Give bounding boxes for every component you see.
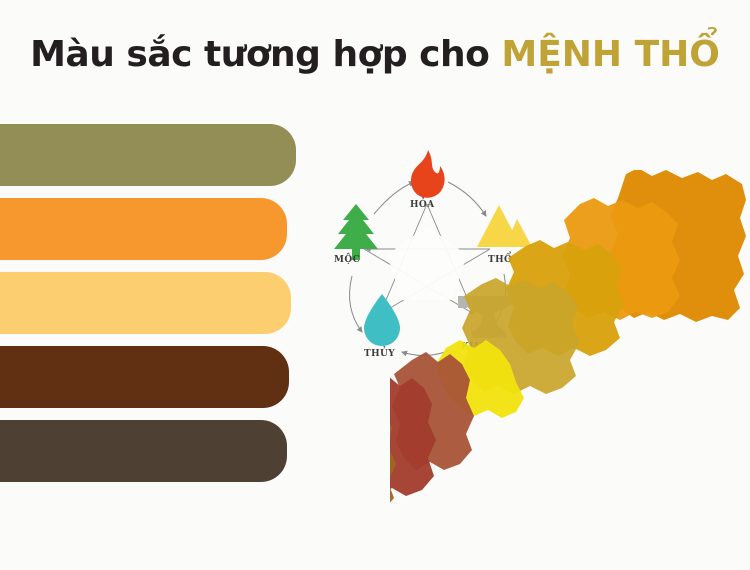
swatch-bar-taupe-brown	[0, 420, 287, 482]
page-title: Màu sắc tương hợp cho MỆNH THỔ	[0, 34, 750, 75]
brush-stroke-group	[390, 170, 750, 570]
arrow-thuy-to-moc	[350, 276, 362, 332]
swatch-bar-olive-khaki	[0, 124, 296, 186]
tree-icon	[334, 204, 378, 260]
element-label-moc: MỘC	[334, 255, 360, 265]
swatch-bar-light-amber	[0, 272, 291, 334]
swatch-bar-orange	[0, 198, 287, 260]
brush-svg	[390, 170, 750, 570]
page-title-accent: MỆNH THỔ	[501, 34, 720, 75]
page-title-plain: Màu sắc tương hợp cho	[30, 34, 501, 75]
swatch-bar-dark-brown	[0, 346, 289, 408]
poster-canvas: Màu sắc tương hợp cho MỆNH THỔ	[0, 0, 750, 570]
color-swatch-list	[0, 124, 300, 482]
